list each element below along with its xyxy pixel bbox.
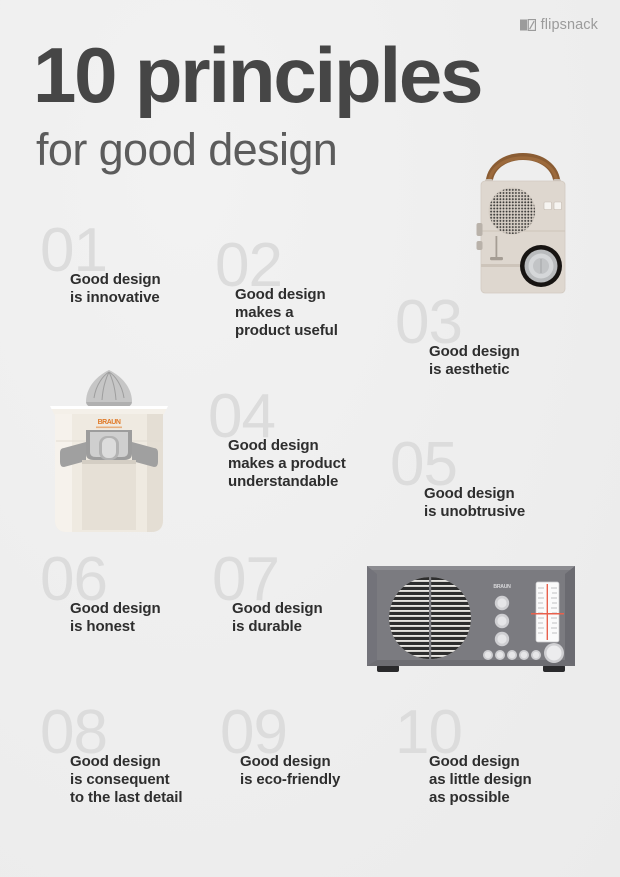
principle-09: 09 Good design is eco-friendly — [220, 708, 340, 789]
principle-number: 07 — [212, 555, 323, 606]
principle-number: 04 — [208, 392, 346, 443]
poster-canvas: flipsnack 10 principles for good design — [0, 0, 620, 877]
principle-01: 01 Good design is innovative — [40, 226, 161, 307]
flipsnack-logo[interactable]: flipsnack — [520, 17, 598, 33]
principle-number: 02 — [215, 241, 338, 292]
principle-text: Good design makes a product useful — [235, 286, 338, 340]
product-image-portable-radio — [459, 133, 589, 297]
flipbook-page-icon — [520, 19, 536, 31]
principle-number: 09 — [220, 708, 340, 759]
principle-number: 05 — [390, 440, 525, 491]
principle-text: Good design is durable — [232, 600, 323, 636]
principle-07: 07 Good design is durable — [212, 555, 323, 636]
principle-03: 03 Good design is aesthetic — [395, 298, 520, 379]
principle-08: 08 Good design is consequent to the last… — [40, 708, 182, 806]
principle-text: Good design is aesthetic — [429, 343, 520, 379]
principle-04: 04 Good design makes a product understan… — [208, 392, 346, 490]
principle-text: Good design is eco-friendly — [240, 753, 340, 789]
principle-text: Good design is innovative — [70, 271, 161, 307]
brand-name: flipsnack — [541, 17, 598, 33]
svg-text:BRAUN: BRAUN — [493, 584, 511, 590]
product-image-citrus-juicer: BRAUN — [42, 362, 176, 538]
svg-text:BRAUN: BRAUN — [98, 419, 121, 426]
principle-text: Good design as little design as possible — [429, 753, 532, 807]
principle-text: Good design makes a product understandab… — [228, 437, 346, 491]
principle-02: 02 Good design makes a product useful — [215, 241, 338, 339]
principle-number: 03 — [395, 298, 520, 349]
principle-number: 10 — [395, 708, 532, 759]
principle-10: 10 Good design as little design as possi… — [395, 708, 532, 806]
principle-text: Good design is honest — [70, 600, 161, 636]
principle-06: 06 Good design is honest — [40, 555, 161, 636]
page-title: 10 principles — [33, 36, 481, 114]
principle-text: Good design is consequent to the last de… — [70, 753, 182, 807]
principle-number: 01 — [40, 226, 161, 277]
principle-text: Good design is unobtrusive — [424, 485, 525, 521]
page-subtitle: for good design — [36, 127, 337, 172]
principle-number: 06 — [40, 555, 161, 606]
product-image-table-radio: BRAUN — [363, 560, 579, 677]
principle-05: 05 Good design is unobtrusive — [390, 440, 525, 521]
principle-number: 08 — [40, 708, 182, 759]
